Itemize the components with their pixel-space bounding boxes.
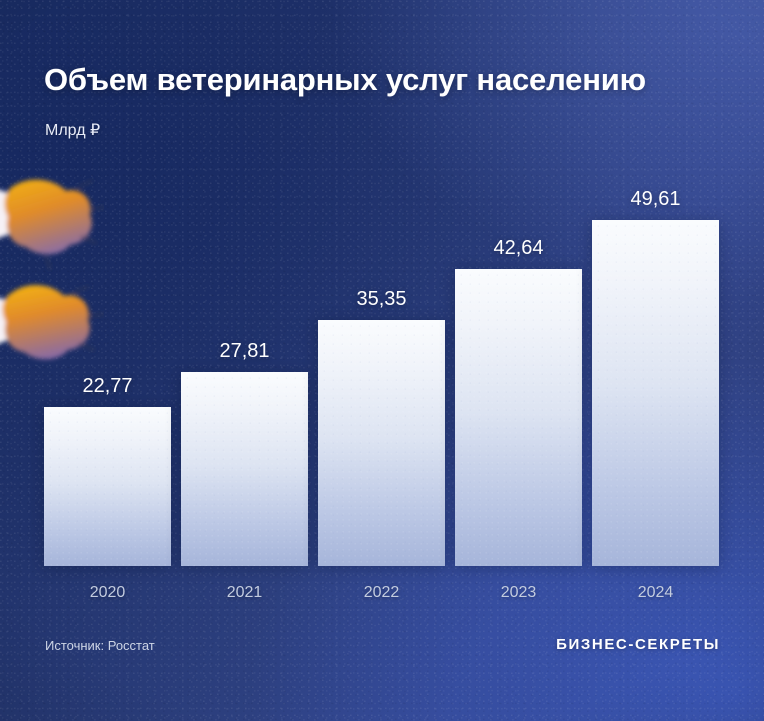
bar-value-label: 27,81	[181, 340, 308, 363]
bar-group: 22,772020	[44, 407, 171, 566]
bar-2020[interactable]	[44, 407, 171, 566]
x-axis-label-2021: 2021	[181, 584, 308, 602]
brand-wordmark: БИЗНЕС-СЕКРЕТЫ	[556, 636, 720, 653]
bar-group: 35,352022	[318, 320, 445, 566]
bar-2023[interactable]	[455, 269, 582, 566]
bar-value-label: 35,35	[318, 288, 445, 311]
bar-group: 49,612024	[592, 220, 719, 566]
bar-value-label: 42,64	[455, 237, 582, 260]
bar-2021[interactable]	[181, 372, 308, 566]
x-axis-label-2023: 2023	[455, 584, 582, 602]
bar-group: 42,642023	[455, 269, 582, 566]
bar-value-label: 22,77	[44, 375, 171, 398]
bar-group: 27,812021	[181, 372, 308, 566]
infographic-canvas: Объем ветеринарных услуг населению Млрд …	[0, 0, 764, 721]
bar-2024[interactable]	[592, 220, 719, 566]
x-axis-label-2022: 2022	[318, 584, 445, 602]
bar-chart-plot: 22,77202027,81202135,35202242,64202349,6…	[0, 0, 764, 721]
x-axis-label-2020: 2020	[44, 584, 171, 602]
bar-value-label: 49,61	[592, 188, 719, 211]
bar-2022[interactable]	[318, 320, 445, 566]
x-axis-label-2024: 2024	[592, 584, 719, 602]
source-note: Источник: Росстат	[45, 638, 155, 653]
